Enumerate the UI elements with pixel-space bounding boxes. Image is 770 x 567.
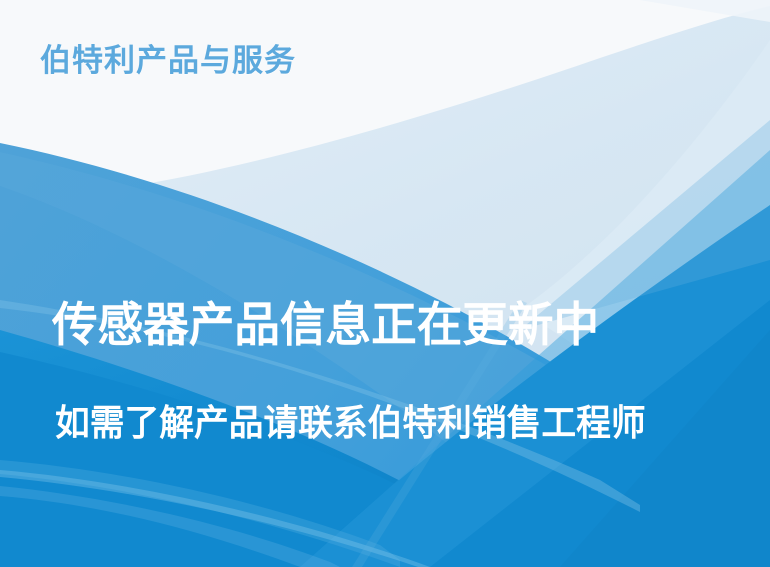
brand-title: 伯特利产品与服务 <box>40 44 296 78</box>
contact-instruction-text: 如需了解产品请联系伯特利销售工程师 <box>55 402 731 443</box>
placeholder-slide: 伯特利产品与服务 传感器产品信息正在更新中 如需了解产品请联系伯特利销售工程师 <box>0 0 770 567</box>
text-layer: 伯特利产品与服务 传感器产品信息正在更新中 如需了解产品请联系伯特利销售工程师 <box>0 0 770 567</box>
page-title: 传感器产品信息正在更新中 <box>52 299 702 352</box>
